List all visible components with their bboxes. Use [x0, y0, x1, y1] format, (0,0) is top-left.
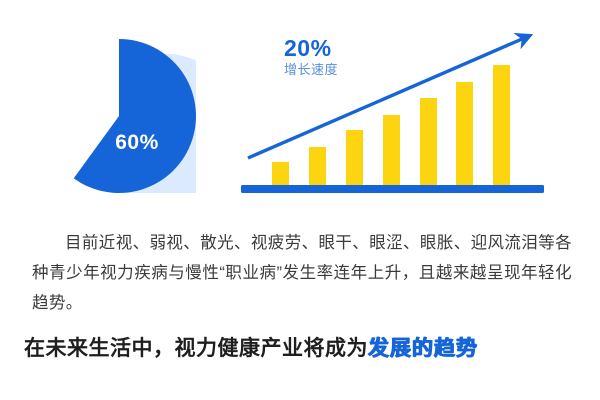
headline-accent-text: 发展的趋势: [368, 337, 478, 360]
bar-5: [420, 98, 437, 185]
bar-1: [272, 162, 289, 185]
pie-chart-svg: [42, 39, 196, 193]
bar-6: [456, 82, 473, 185]
pie-chart: 60%: [42, 39, 196, 193]
bar-7: [493, 65, 510, 185]
infographic-charts-band: 60%: [0, 0, 600, 215]
body-paragraph: 目前近视、弱视、散光、视疲劳、眼干、眼涩、眼胀、迎风流泪等各种青少年视力疾病与慢…: [32, 228, 572, 318]
growth-caption-label: 增长速度: [284, 63, 404, 77]
growth-percent-label: 20%: [284, 36, 404, 60]
page-headline: 在未来生活中，视力健康产业将成为发展的趋势: [24, 336, 584, 362]
chart-baseline: [241, 185, 544, 193]
infographic-page: 60%: [0, 0, 600, 400]
bar-4: [383, 115, 400, 185]
bar-2: [309, 147, 326, 185]
bar-3: [346, 130, 363, 185]
pie-value-label: 60%: [102, 132, 172, 153]
headline-lead-text: 在未来生活中，视力健康产业将成为: [24, 337, 368, 360]
growth-callout: 20% 增长速度: [284, 36, 404, 77]
body-paragraph-block: 目前近视、弱视、散光、视疲劳、眼干、眼涩、眼胀、迎风流泪等各种青少年视力疾病与慢…: [32, 228, 572, 318]
